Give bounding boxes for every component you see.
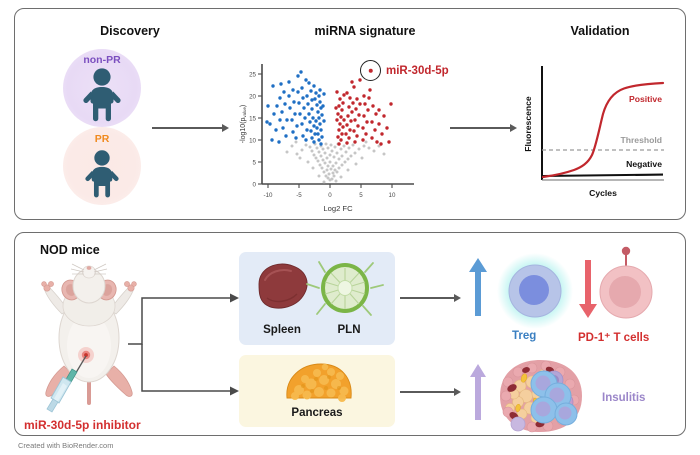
mir-30d-5p-callout: miR-30d-5p <box>360 60 449 81</box>
arrow-signature-to-validation <box>450 127 512 129</box>
arrow-pancreas-to-insulitis <box>400 391 456 393</box>
arrow-head-signature-to-validation <box>510 124 517 132</box>
svg-text:Threshold: Threshold <box>620 135 662 145</box>
pancreas-icon <box>239 358 395 408</box>
up-arrow-icon-treg <box>468 258 488 323</box>
outcome-label-treg: Treg <box>512 330 536 342</box>
pln-icon <box>307 262 383 315</box>
split-arrow-to-organs <box>128 288 244 406</box>
svg-text:0: 0 <box>328 192 332 199</box>
treatment-label-mir-inhibitor: miR-30d-5p inhibitor <box>24 418 141 432</box>
organ-label-pln: PLN <box>321 324 377 336</box>
group-label-pr: PR <box>63 133 141 145</box>
outcome-label-insulitis: Insulitis <box>602 392 645 404</box>
figure-canvas: Discovery miRNA signature Validation non… <box>0 0 700 455</box>
organ-label-pancreas: Pancreas <box>239 407 395 419</box>
panel-title-nod-mice: NOD mice <box>40 243 180 257</box>
arrow-head-pancreas-to-insulitis <box>454 388 461 396</box>
up-arrow-icon-insulitis <box>468 364 488 427</box>
organ-box-spleen-pln: Spleen PLN <box>239 252 395 345</box>
arrow-spleen-pln-to-outcomes <box>400 297 456 299</box>
svg-text:15: 15 <box>249 115 256 122</box>
svg-text:Cycles: Cycles <box>589 188 617 198</box>
treg-cell-icon <box>496 252 574 330</box>
svg-text:Log2 FC: Log2 FC <box>323 204 353 213</box>
svg-text:-5: -5 <box>296 192 302 199</box>
svg-text:25: 25 <box>249 71 256 78</box>
group-circle-pr: PR <box>63 127 141 205</box>
svg-text:10: 10 <box>389 192 396 199</box>
mir-30d-5p-label: miR-30d-5p <box>386 65 449 77</box>
svg-text:20: 20 <box>249 93 256 100</box>
group-label-non-pr: non-PR <box>63 54 141 66</box>
svg-text:Positive: Positive <box>629 94 662 104</box>
panel-title-mirna-signature: miRNA signature <box>255 24 475 38</box>
arrow-head-spleen-pln-to-outcomes <box>454 294 461 302</box>
panel-title-discovery: Discovery <box>65 24 195 38</box>
spleen-icon <box>259 264 307 308</box>
organ-label-spleen: Spleen <box>251 324 313 336</box>
qpcr-amplification-chart: Threshold Negative Positive Cycles Fluor… <box>520 62 670 202</box>
biorender-credit: Created with BioRender.com <box>18 441 113 450</box>
outcome-label-pd1-t-cells: PD-1⁺ T cells <box>578 330 649 344</box>
person-icon-non-pr <box>79 67 125 128</box>
highlight-circle-icon <box>360 60 381 81</box>
svg-text:10: 10 <box>249 137 256 144</box>
svg-text:Negative: Negative <box>626 159 662 169</box>
svg-text:0: 0 <box>253 181 257 188</box>
insulitis-islet-icon <box>492 356 588 436</box>
group-circle-non-pr: non-PR <box>63 49 141 127</box>
panel-title-validation: Validation <box>525 24 675 38</box>
svg-text:5: 5 <box>359 192 363 199</box>
svg-text:-10: -10 <box>264 192 274 199</box>
arrow-discovery-to-signature <box>152 127 224 129</box>
person-icon-pr <box>81 149 123 204</box>
volcano-plot: 0 5 10 15 20 25 -10 -5 0 5 10 <box>236 58 426 216</box>
svg-text:Fluorescence: Fluorescence <box>523 96 533 152</box>
pd1-t-cell-icon <box>586 246 666 330</box>
spleen-pln-graphics <box>239 254 395 326</box>
svg-text:5: 5 <box>253 159 257 166</box>
arrow-head-discovery-to-signature <box>222 124 229 132</box>
svg-text:-log10(pvalue): -log10(pvalue) <box>240 105 247 144</box>
organ-box-pancreas: Pancreas <box>239 355 395 427</box>
